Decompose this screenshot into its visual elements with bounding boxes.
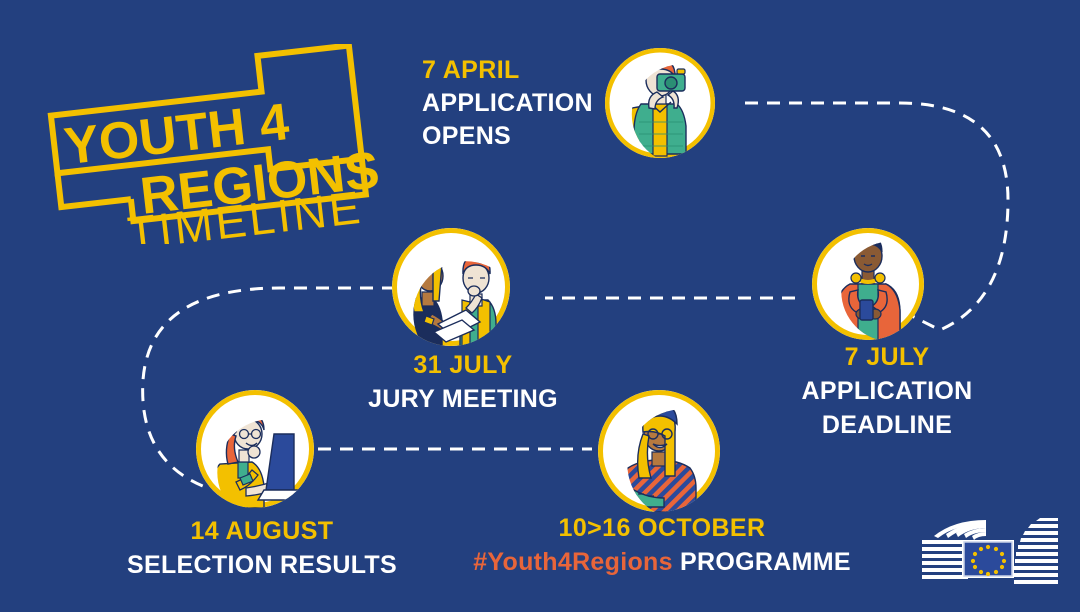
milestone-icon-application-opens (605, 48, 715, 158)
european-commission-logo (920, 518, 1060, 596)
milestone-icon-programme (598, 390, 720, 512)
milestone-caption-jury-meeting: 31 JULY JURY MEETING (348, 348, 578, 416)
milestone-date: 7 JULY (792, 340, 982, 374)
smiling-woman-with-glasses-icon (598, 390, 720, 512)
milestone-label-line2: DEADLINE (792, 408, 982, 442)
milestone-label-line1: #Youth4Regions PROGRAMME (462, 545, 862, 579)
milestone-date: 14 AUGUST (112, 514, 412, 548)
milestone-label-line1: SELECTION RESULTS (112, 548, 412, 582)
milestone-caption-application-deadline: 7 JULY APPLICATION DEADLINE (792, 340, 982, 442)
student-with-smartphone-icon (812, 228, 924, 340)
programme-word: PROGRAMME (673, 548, 851, 576)
milestone-label-line1: JURY MEETING (348, 382, 578, 416)
milestone-caption-application-opens: 7 APRIL APPLICATION OPENS (422, 54, 593, 153)
milestone-icon-selection-results (196, 390, 314, 508)
infographic-canvas: YOUTH 4 REGIONS TIMELINE (0, 0, 1080, 612)
two-people-reviewing-documents-icon (392, 228, 510, 346)
photographer-with-camera-icon (605, 48, 715, 158)
programme-hashtag: #Youth4Regions (473, 548, 673, 576)
milestone-date: 7 APRIL (422, 54, 593, 87)
woman-at-laptop-icon (196, 390, 314, 508)
milestone-date: 10>16 OCTOBER (462, 511, 862, 545)
milestone-caption-selection-results: 14 AUGUST SELECTION RESULTS (112, 514, 412, 582)
milestone-icon-application-deadline (812, 228, 924, 340)
milestone-label-line1: APPLICATION (422, 87, 593, 120)
milestone-label-line2: OPENS (422, 120, 593, 153)
milestone-caption-programme: 10>16 OCTOBER #Youth4Regions PROGRAMME (462, 511, 862, 579)
milestone-label-line1: APPLICATION (792, 374, 982, 408)
milestone-date: 31 JULY (348, 348, 578, 382)
milestone-icon-jury-meeting (392, 228, 510, 346)
youth4regions-logo: YOUTH 4 REGIONS TIMELINE (38, 44, 378, 244)
